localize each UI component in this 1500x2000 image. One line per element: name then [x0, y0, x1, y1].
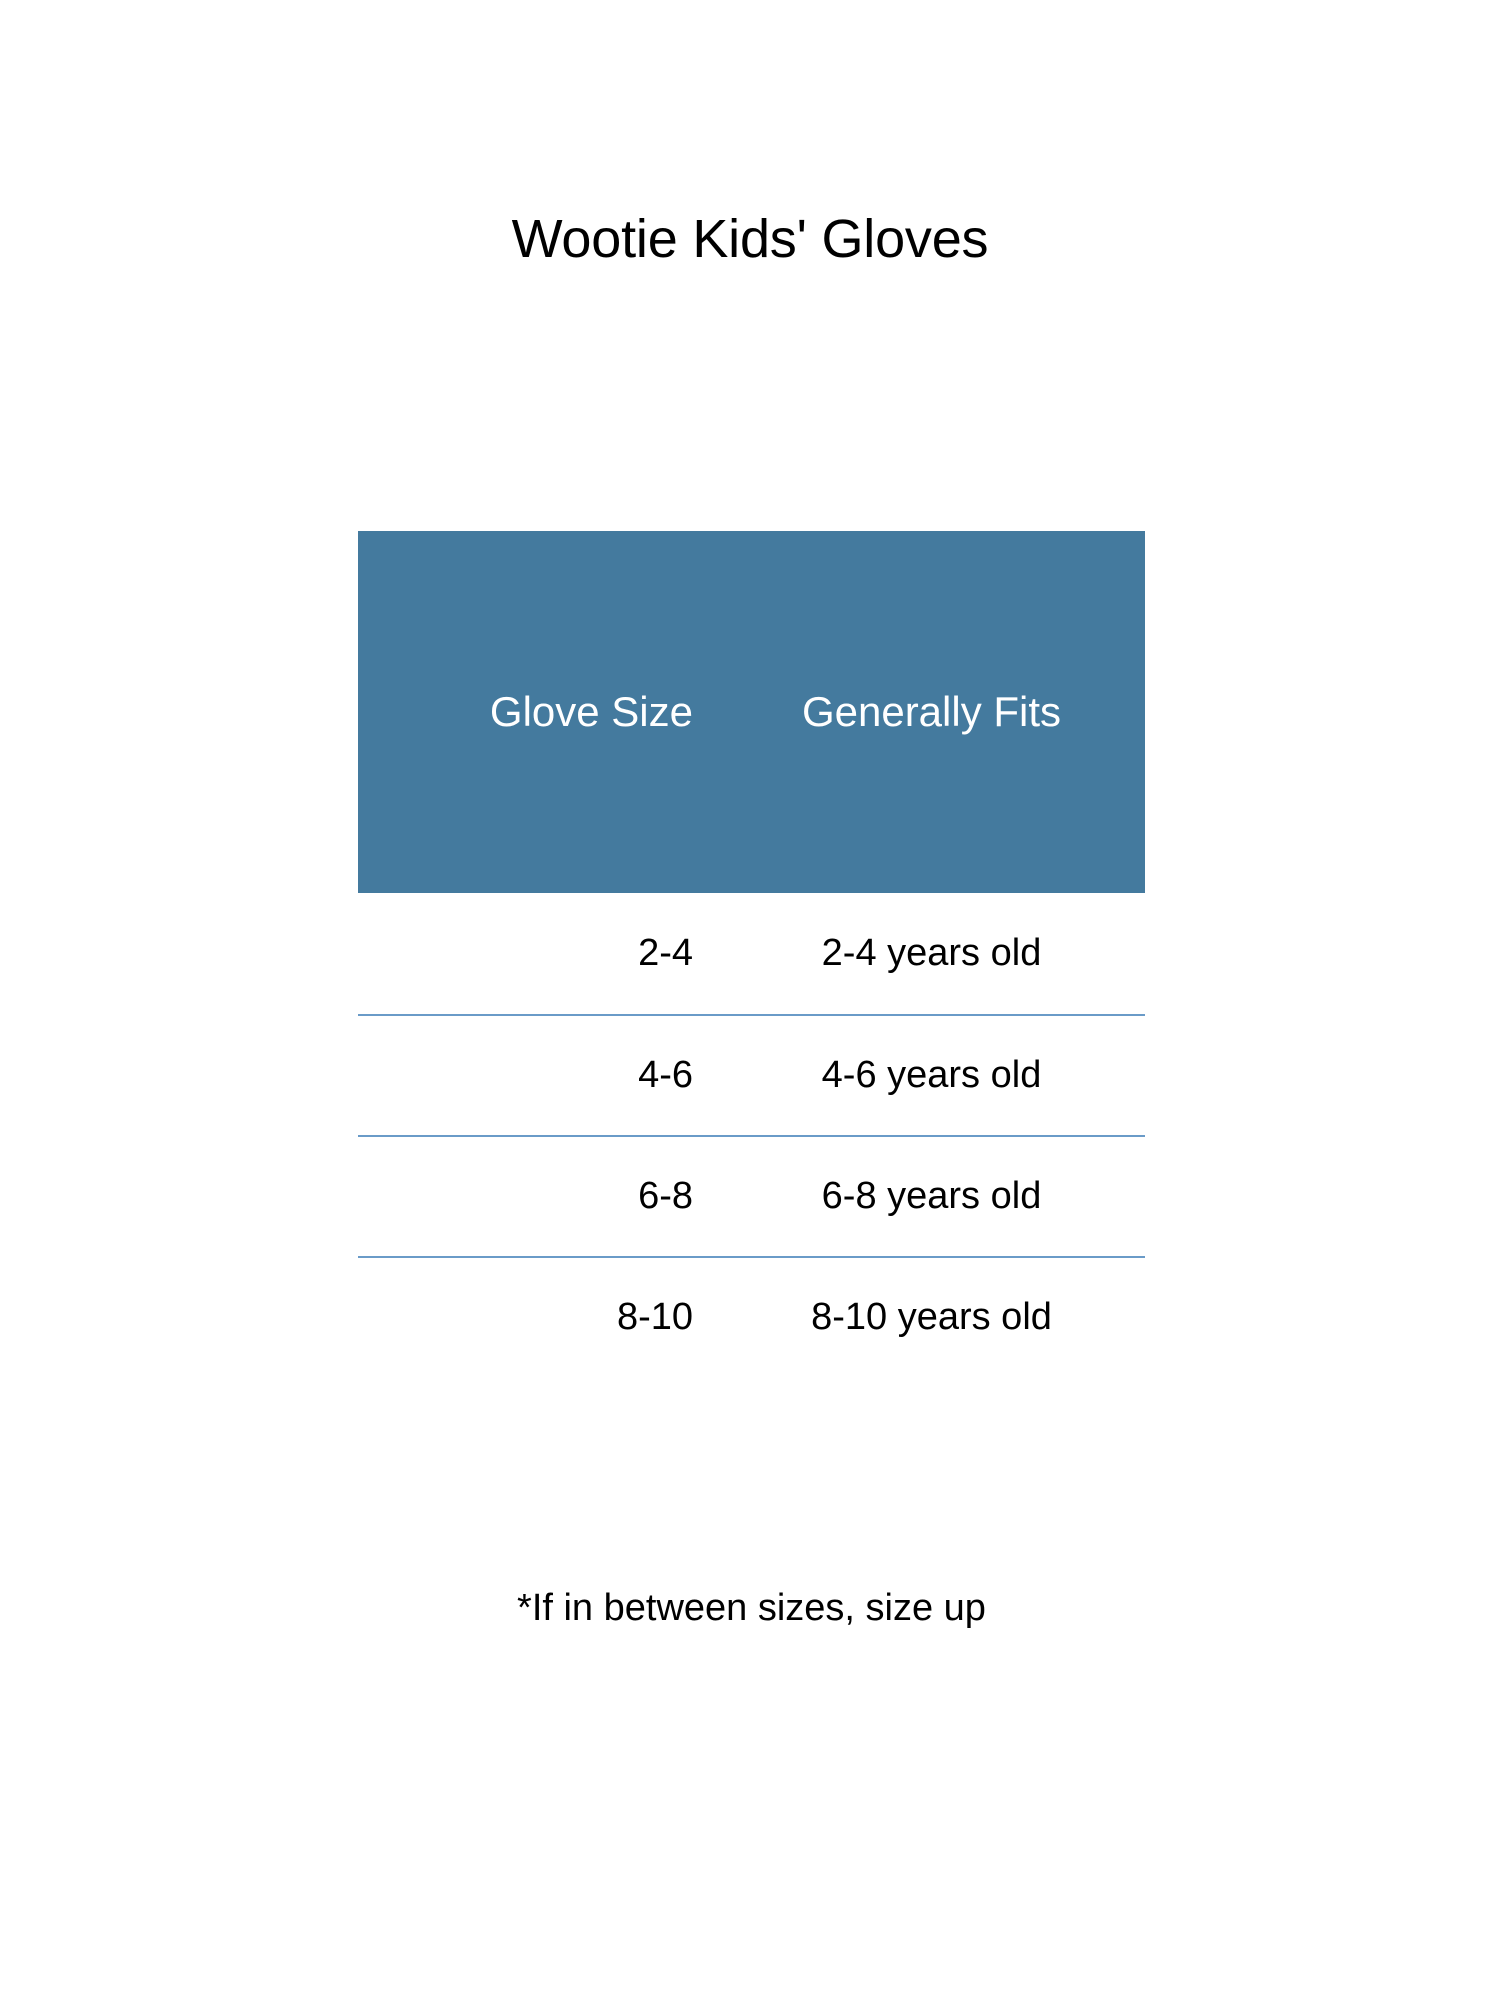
- column-header-generally-fits: Generally Fits: [718, 689, 1145, 735]
- size-chart-page: Wootie Kids' Gloves Glove Size Generally…: [0, 0, 1500, 2000]
- table-row: 2-4 2-4 years old: [358, 893, 1145, 1014]
- table-header-row: Glove Size Generally Fits: [358, 531, 1145, 893]
- table-row: 8-10 8-10 years old: [358, 1256, 1145, 1377]
- cell-generally-fits: 2-4 years old: [718, 933, 1145, 975]
- cell-glove-size: 8-10: [358, 1297, 718, 1339]
- table-header-band: Glove Size Generally Fits: [358, 531, 1145, 893]
- cell-generally-fits: 8-10 years old: [718, 1297, 1145, 1339]
- cell-generally-fits: 4-6 years old: [718, 1055, 1145, 1097]
- cell-generally-fits: 6-8 years old: [718, 1176, 1145, 1218]
- cell-glove-size: 2-4: [358, 933, 718, 975]
- table-row: 6-8 6-8 years old: [358, 1135, 1145, 1256]
- page-title: Wootie Kids' Gloves: [0, 208, 1500, 270]
- cell-glove-size: 6-8: [358, 1176, 718, 1218]
- column-header-glove-size: Glove Size: [358, 689, 718, 735]
- table-body: 2-4 2-4 years old 4-6 4-6 years old 6-8 …: [358, 893, 1145, 1377]
- sizing-footnote: *If in between sizes, size up: [358, 1588, 1145, 1630]
- table-row: 4-6 4-6 years old: [358, 1014, 1145, 1135]
- cell-glove-size: 4-6: [358, 1055, 718, 1097]
- size-chart-table: Glove Size Generally Fits 2-4 2-4 years …: [358, 531, 1145, 1377]
